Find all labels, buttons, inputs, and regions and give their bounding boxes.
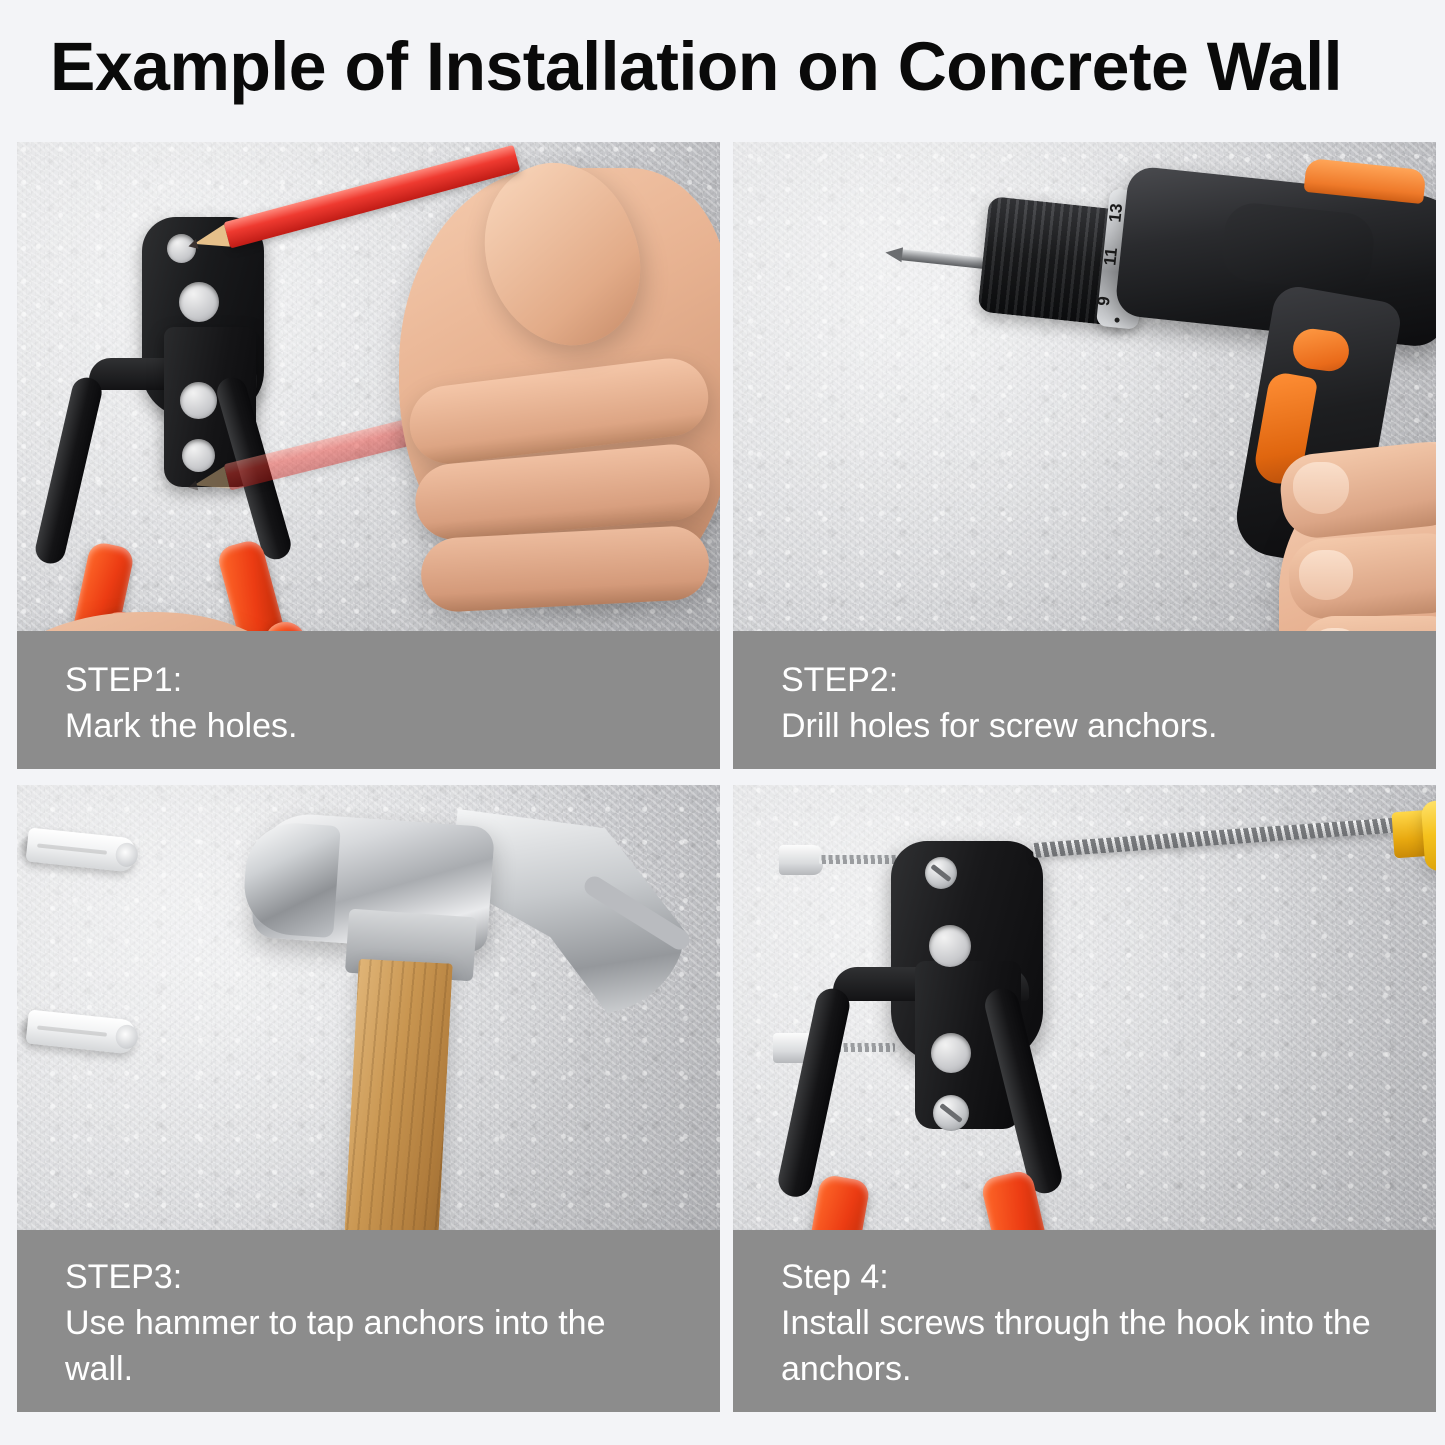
fingernail	[1293, 462, 1349, 514]
step-2-text: Drill holes for screw anchors.	[781, 703, 1388, 749]
step-3-label: STEP3:	[65, 1254, 672, 1300]
step-4-label: Step 4:	[781, 1254, 1388, 1300]
mounting-hole-4	[182, 439, 215, 472]
step-2-label: STEP2:	[781, 657, 1388, 703]
step-1-label: STEP1:	[65, 657, 672, 703]
step-4-text: Install screws through the hook into the…	[781, 1300, 1388, 1392]
step-panel-4: Step 4: Install screws through the hook …	[733, 785, 1436, 1412]
torque-dot	[1114, 317, 1119, 322]
steps-grid: STEP1: Mark the holes. 13 11 9	[17, 142, 1427, 1412]
step-1-caption: STEP1: Mark the holes.	[17, 631, 720, 769]
screw-head-top	[925, 857, 957, 889]
step-panel-2: 13 11 9	[733, 142, 1436, 769]
mounting-hole-3	[931, 1033, 971, 1073]
mounting-hole-2	[179, 282, 219, 322]
drill-body-pad	[1219, 200, 1376, 293]
installed-anchor-1	[779, 845, 823, 875]
step-4-caption: Step 4: Install screws through the hook …	[733, 1230, 1436, 1412]
step-panel-3: STEP3: Use hammer to tap anchors into th…	[17, 785, 720, 1412]
step-2-caption: STEP2: Drill holes for screw anchors.	[733, 631, 1436, 769]
fingernail	[1299, 550, 1353, 600]
mounting-hole-3	[180, 382, 217, 419]
installation-guide-page: Example of Installation on Concrete Wall	[0, 0, 1445, 1445]
torque-number-9: 9	[1094, 295, 1115, 307]
screw-head-bottom	[933, 1095, 969, 1131]
step-3-text: Use hammer to tap anchors into the wall.	[65, 1300, 672, 1392]
step-1-text: Mark the holes.	[65, 703, 672, 749]
step-panel-1: STEP1: Mark the holes.	[17, 142, 720, 769]
step-3-caption: STEP3: Use hammer to tap anchors into th…	[17, 1230, 720, 1412]
mounting-hole-2	[929, 925, 971, 967]
finger-ring	[419, 525, 710, 614]
page-title: Example of Installation on Concrete Wall	[50, 28, 1390, 106]
screw-shaft-1	[819, 855, 905, 864]
